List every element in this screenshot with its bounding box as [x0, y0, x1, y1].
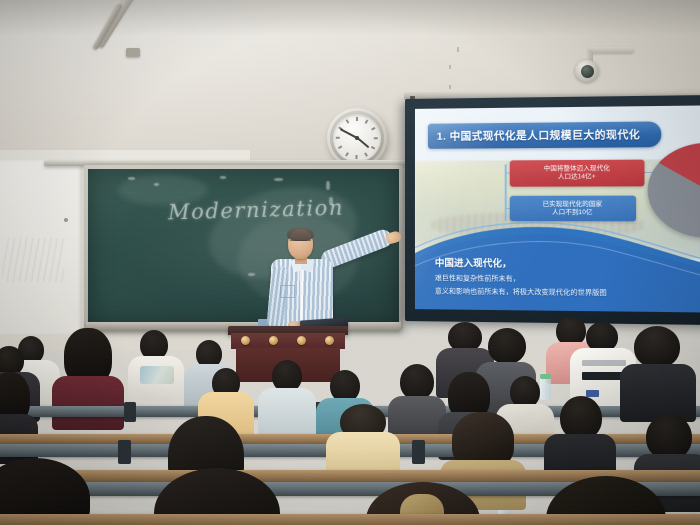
water-bottle	[540, 378, 551, 400]
slide-title: 1. 中国式现代化是人口规模巨大的现代化	[428, 127, 640, 144]
desk-row-foreground	[0, 514, 700, 525]
callout-red-line2: 人口达14亿+	[558, 173, 596, 181]
slide-pie-chart	[648, 142, 700, 238]
wall-mark	[457, 47, 459, 52]
classroom-photo: Modernization 1. 中	[0, 0, 700, 525]
wall-clock	[327, 108, 387, 168]
rail-post	[118, 440, 131, 464]
camera-lens-icon	[581, 65, 594, 78]
shirt-tag	[586, 390, 599, 397]
bottle-cap	[540, 374, 551, 379]
chalkboard-writing: Modernization	[168, 196, 345, 225]
wall-mark	[449, 65, 451, 69]
rail-post	[124, 402, 136, 422]
whiteboard-faded-writing	[2, 238, 64, 282]
slide-title-bar: 1. 中国式现代化是人口规模巨大的现代化	[428, 121, 662, 148]
presenter-hair	[287, 227, 314, 241]
shirt-print	[582, 372, 622, 380]
screen-surface: 1. 中国式现代化是人口规模巨大的现代化 中国将整体迈入现代化 人口达14亿+	[415, 105, 700, 312]
shirt-pocket	[280, 285, 295, 298]
slide-footer-heading: 中国进入现代化，	[435, 255, 693, 271]
clock-face	[333, 114, 381, 162]
slide-footer-line1: 艰巨性和复杂性前所未有，	[435, 273, 693, 285]
slide-callout-blue: 已实现现代化的国家 人口不到10亿	[510, 196, 636, 222]
wall-mark	[449, 85, 451, 89]
rail-post	[412, 440, 425, 464]
clock-center-pin	[355, 136, 359, 140]
pipe-cap-icon	[126, 48, 140, 57]
audience-area	[0, 318, 700, 525]
presentation-slide: 1. 中国式现代化是人口规模巨大的现代化 中国将整体迈入现代化 人口达14亿+	[415, 105, 700, 312]
shirt-print	[140, 366, 174, 384]
callout-red-line1: 中国将整体迈入现代化	[544, 165, 610, 173]
slide-footer-line2: 意义和影响也前所未有，将极大改变现代化的世界版图	[435, 286, 693, 299]
callout-blue-line2: 人口不到10亿	[552, 208, 592, 216]
shirt-print	[582, 360, 626, 366]
projection-screen: 1. 中国式现代化是人口规模巨大的现代化 中国将整体迈入现代化 人口达14亿+	[405, 95, 700, 325]
callout-blue-line1: 已实现现代化的国家	[543, 200, 603, 208]
slide-callout-red: 中国将整体迈入现代化 人口达14亿+	[510, 160, 645, 187]
pie-slices	[648, 142, 700, 238]
camera-mount-arm	[588, 47, 634, 53]
glasses-icon	[290, 240, 311, 246]
whiteboard-screw	[64, 218, 68, 222]
slide-footer: 中国进入现代化， 艰巨性和复杂性前所未有， 意义和影响也前所未有，将极大改变现代…	[435, 255, 693, 302]
whiteboard	[0, 160, 82, 335]
